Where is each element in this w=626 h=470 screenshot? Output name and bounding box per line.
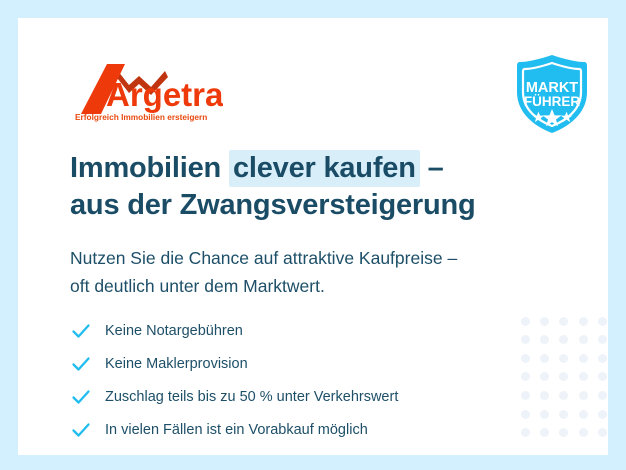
dot xyxy=(540,335,549,344)
dot xyxy=(540,317,549,326)
dot xyxy=(540,410,549,419)
dot xyxy=(540,428,549,437)
dot xyxy=(598,428,607,437)
dot xyxy=(579,372,588,381)
list-item: Keine Notargebühren xyxy=(71,316,541,346)
dot xyxy=(540,372,549,381)
dot xyxy=(559,372,568,381)
subheading-line1: Nutzen Sie die Chance auf attraktive Kau… xyxy=(70,244,570,272)
markt-fuehrer-badge: MARKT FÜHRER xyxy=(510,52,594,136)
list-item-label: Keine Maklerprovision xyxy=(105,356,248,372)
dot xyxy=(598,391,607,400)
dot xyxy=(598,317,607,326)
dot xyxy=(579,410,588,419)
argetra-logo[interactable]: Argetra Erfolgreich Immobilien ersteiger… xyxy=(73,62,223,124)
badge-line2: FÜHRER xyxy=(524,94,580,109)
dot xyxy=(598,354,607,363)
subheading-line2: oft deutlich unter dem Marktwert. xyxy=(70,272,570,300)
dot xyxy=(579,354,588,363)
dot xyxy=(598,372,607,381)
list-item: Keine Maklerprovision xyxy=(71,349,541,379)
promo-banner: Argetra Erfolgreich Immobilien ersteiger… xyxy=(0,0,626,470)
dot xyxy=(559,428,568,437)
list-item-label: Keine Notargebühren xyxy=(105,323,243,339)
dot xyxy=(559,317,568,326)
dot xyxy=(559,354,568,363)
dot xyxy=(579,317,588,326)
benefits-list: Keine Notargebühren Keine Maklerprovisio… xyxy=(71,316,541,448)
headline-line1-before: Immobilien xyxy=(70,152,229,184)
check-icon xyxy=(71,387,91,407)
dot xyxy=(579,335,588,344)
list-item-label: In vielen Fällen ist ein Vorabkauf mögli… xyxy=(105,422,368,438)
headline-line1-after: – xyxy=(420,152,444,184)
dot xyxy=(598,410,607,419)
list-item: Zuschlag teils bis zu 50 % unter Verkehr… xyxy=(71,382,541,412)
dot xyxy=(579,391,588,400)
dot xyxy=(598,335,607,344)
dot xyxy=(540,391,549,400)
dot xyxy=(540,354,549,363)
dot xyxy=(559,391,568,400)
check-icon xyxy=(71,321,91,341)
argetra-tagline: Erfolgreich Immobilien ersteigern xyxy=(75,112,207,122)
dot xyxy=(559,335,568,344)
check-icon xyxy=(71,354,91,374)
list-item: In vielen Fällen ist ein Vorabkauf mögli… xyxy=(71,415,541,445)
check-icon xyxy=(71,420,91,440)
headline-highlight: clever kaufen xyxy=(229,150,420,187)
dot xyxy=(559,410,568,419)
subheading: Nutzen Sie die Chance auf attraktive Kau… xyxy=(70,244,570,300)
page-title: Immobilien clever kaufen – aus der Zwang… xyxy=(70,151,570,223)
argetra-wordmark: Argetra xyxy=(106,76,223,113)
banner-card: Argetra Erfolgreich Immobilien ersteiger… xyxy=(18,18,608,455)
headline-line2: aus der Zwangsversteigerung xyxy=(70,188,570,223)
list-item-label: Zuschlag teils bis zu 50 % unter Verkehr… xyxy=(105,389,398,405)
dot xyxy=(579,428,588,437)
